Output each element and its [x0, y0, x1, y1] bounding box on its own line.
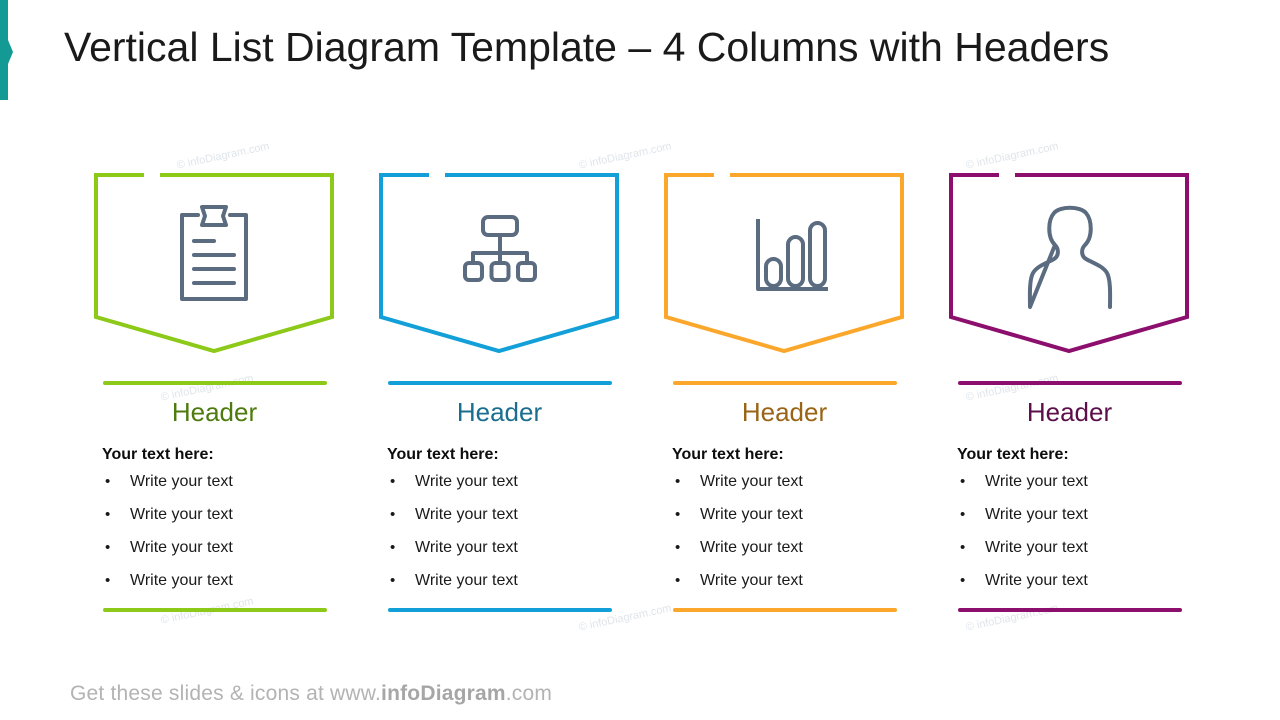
list-item-label: Write your text — [700, 572, 803, 590]
person-icon — [1030, 208, 1110, 307]
column-lead-4: Your text here: — [957, 446, 1181, 464]
list-item: • Write your text — [102, 506, 326, 539]
pennant-4 — [927, 165, 1212, 361]
column-2: Header Your text here: • Write your text… — [357, 165, 642, 605]
list-item: • Write your text — [672, 539, 896, 572]
list-item-label: Write your text — [130, 506, 233, 524]
bar-chart-icon — [758, 219, 828, 289]
list-item: • Write your text — [102, 572, 326, 605]
list-item-label: Write your text — [130, 572, 233, 590]
divider-bottom-2 — [388, 608, 612, 612]
bullet-dot-icon: • — [957, 473, 985, 490]
column-header-4: Header — [1027, 399, 1112, 425]
bullet-dot-icon: • — [957, 539, 985, 556]
list-item-label: Write your text — [415, 572, 518, 590]
list-item-label: Write your text — [415, 539, 518, 557]
list-item: • Write your text — [387, 572, 611, 605]
list-item-label: Write your text — [415, 473, 518, 491]
column-lead-3: Your text here: — [672, 446, 896, 464]
column-header-2: Header — [457, 399, 542, 425]
list-item: • Write your text — [957, 506, 1181, 539]
bullet-dot-icon: • — [102, 539, 130, 556]
list-item-label: Write your text — [985, 572, 1088, 590]
divider-top-1 — [103, 381, 327, 385]
page-title: Vertical List Diagram Template – 4 Colum… — [64, 24, 1109, 71]
column-body-1: Your text here: • Write your text • Writ… — [102, 446, 326, 605]
column-lead-1: Your text here: — [102, 446, 326, 464]
list-item-label: Write your text — [700, 539, 803, 557]
list-item-label: Write your text — [415, 506, 518, 524]
column-body-3: Your text here: • Write your text • Writ… — [672, 446, 896, 605]
list-item-label: Write your text — [130, 473, 233, 491]
bullet-dot-icon: • — [672, 473, 700, 490]
list-item: • Write your text — [957, 572, 1181, 605]
column-4: Header Your text here: • Write your text… — [927, 165, 1212, 605]
footer-credit: Get these slides & icons at www.infoDiag… — [70, 682, 552, 706]
divider-bottom-1 — [103, 608, 327, 612]
title-accent-bar — [0, 0, 14, 100]
bullet-dot-icon: • — [672, 572, 700, 589]
footer-suffix: .com — [506, 682, 552, 705]
list-item: • Write your text — [672, 473, 896, 506]
bullet-dot-icon: • — [957, 572, 985, 589]
divider-bottom-3 — [673, 608, 897, 612]
list-item: • Write your text — [387, 506, 611, 539]
list-item-label: Write your text — [985, 506, 1088, 524]
column-3: Header Your text here: • Write your text… — [642, 165, 927, 605]
bullet-dot-icon: • — [387, 572, 415, 589]
column-header-1: Header — [172, 399, 257, 425]
list-item: • Write your text — [957, 539, 1181, 572]
bullet-dot-icon: • — [387, 539, 415, 556]
bullet-dot-icon: • — [672, 506, 700, 523]
pennant-3 — [642, 165, 927, 361]
column-1: Header Your text here: • Write your text… — [72, 165, 357, 605]
list-item-label: Write your text — [130, 539, 233, 557]
list-item-label: Write your text — [700, 506, 803, 524]
bullet-dot-icon: • — [102, 506, 130, 523]
bullet-dot-icon: • — [957, 506, 985, 523]
bullet-list-2: • Write your text • Write your text • Wr… — [387, 473, 611, 605]
list-item: • Write your text — [957, 473, 1181, 506]
bullet-dot-icon: • — [672, 539, 700, 556]
divider-top-2 — [388, 381, 612, 385]
list-item-label: Write your text — [985, 473, 1088, 491]
list-item: • Write your text — [102, 539, 326, 572]
list-item: • Write your text — [672, 506, 896, 539]
column-header-3: Header — [742, 399, 827, 425]
column-lead-2: Your text here: — [387, 446, 611, 464]
list-item: • Write your text — [102, 473, 326, 506]
pennant-2 — [357, 165, 642, 361]
slide-canvas: Vertical List Diagram Template – 4 Colum… — [0, 0, 1280, 720]
footer-prefix: Get these slides & icons at www. — [70, 682, 381, 705]
bullet-dot-icon: • — [387, 473, 415, 490]
bullet-list-1: • Write your text • Write your text • Wr… — [102, 473, 326, 605]
footer-brand: infoDiagram — [381, 682, 506, 705]
bullet-list-3: • Write your text • Write your text • Wr… — [672, 473, 896, 605]
pennant-1 — [72, 165, 357, 361]
divider-top-4 — [958, 381, 1182, 385]
divider-top-3 — [673, 381, 897, 385]
divider-bottom-4 — [958, 608, 1182, 612]
column-body-2: Your text here: • Write your text • Writ… — [387, 446, 611, 605]
list-item: • Write your text — [387, 539, 611, 572]
list-item: • Write your text — [672, 572, 896, 605]
list-item-label: Write your text — [985, 539, 1088, 557]
bullet-dot-icon: • — [102, 473, 130, 490]
list-item: • Write your text — [387, 473, 611, 506]
columns-container: Header Your text here: • Write your text… — [72, 165, 1212, 605]
bullet-list-4: • Write your text • Write your text • Wr… — [957, 473, 1181, 605]
hierarchy-icon — [465, 217, 535, 280]
clipboard-icon — [182, 207, 246, 299]
bullet-dot-icon: • — [102, 572, 130, 589]
bullet-dot-icon: • — [387, 506, 415, 523]
list-item-label: Write your text — [700, 473, 803, 491]
column-body-4: Your text here: • Write your text • Writ… — [957, 446, 1181, 605]
